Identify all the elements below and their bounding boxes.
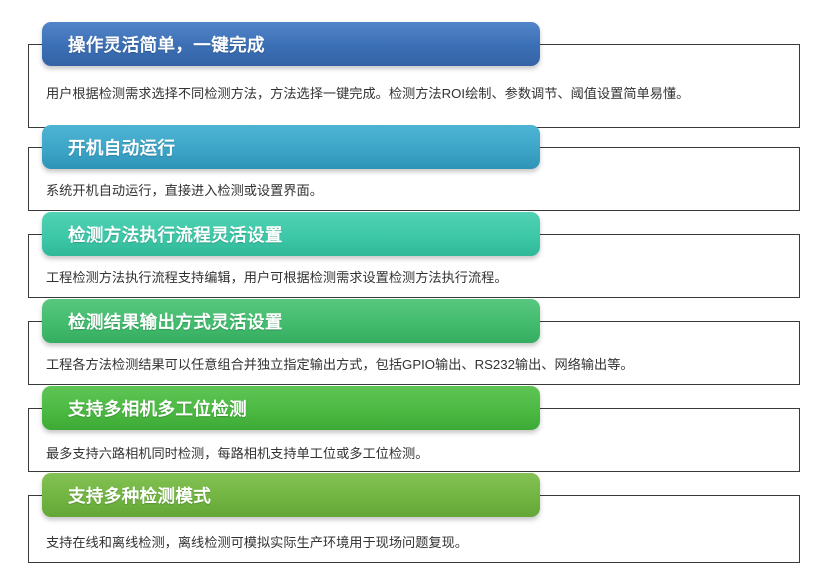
feature-block: 操作灵活简单，一键完成 用户根据检测需求选择不同检测方法，方法选择一键完成。检测… [0,22,836,127]
feature-description: 工程检测方法执行流程支持编辑，用户可根据检测需求设置检测方法执行流程。 [46,268,508,287]
feature-header-pill[interactable]: 检测结果输出方式灵活设置 [42,299,540,343]
feature-block: 支持多相机多工位检测 最多支持六路相机同时检测，每路相机支持单工位或多工位检测。 [0,386,836,472]
feature-description: 系统开机自动运行，直接进入检测或设置界面。 [46,181,323,200]
feature-block: 开机自动运行 系统开机自动运行，直接进入检测或设置界面。 [0,125,836,211]
feature-list: 操作灵活简单，一键完成 用户根据检测需求选择不同检测方法，方法选择一键完成。检测… [0,0,836,588]
feature-block: 检测结果输出方式灵活设置 工程各方法检测结果可以任意组合并独立指定输出方式，包括… [0,299,836,385]
feature-title: 支持多相机多工位检测 [68,396,247,421]
feature-description: 最多支持六路相机同时检测，每路相机支持单工位或多工位检测。 [46,444,428,463]
feature-header-pill[interactable]: 操作灵活简单，一键完成 [42,22,540,66]
feature-header-pill[interactable]: 开机自动运行 [42,125,540,169]
feature-header-pill[interactable]: 支持多相机多工位检测 [42,386,540,430]
feature-description: 工程各方法检测结果可以任意组合并独立指定输出方式，包括GPIO输出、RS232输… [46,355,634,374]
feature-title: 操作灵活简单，一键完成 [68,32,265,57]
feature-title: 检测方法执行流程灵活设置 [68,222,283,247]
feature-description: 支持在线和离线检测，离线检测可模拟实际生产环境用于现场问题复现。 [46,533,468,552]
feature-header-pill[interactable]: 检测方法执行流程灵活设置 [42,212,540,256]
feature-block: 检测方法执行流程灵活设置 工程检测方法执行流程支持编辑，用户可根据检测需求设置检… [0,212,836,298]
feature-header-pill[interactable]: 支持多种检测模式 [42,473,540,517]
feature-title: 检测结果输出方式灵活设置 [68,309,283,334]
feature-title: 开机自动运行 [68,135,175,160]
feature-description: 用户根据检测需求选择不同检测方法，方法选择一键完成。检测方法ROI绘制、参数调节… [46,84,689,103]
feature-block: 支持多种检测模式 支持在线和离线检测，离线检测可模拟实际生产环境用于现场问题复现… [0,473,836,563]
feature-title: 支持多种检测模式 [68,483,211,508]
